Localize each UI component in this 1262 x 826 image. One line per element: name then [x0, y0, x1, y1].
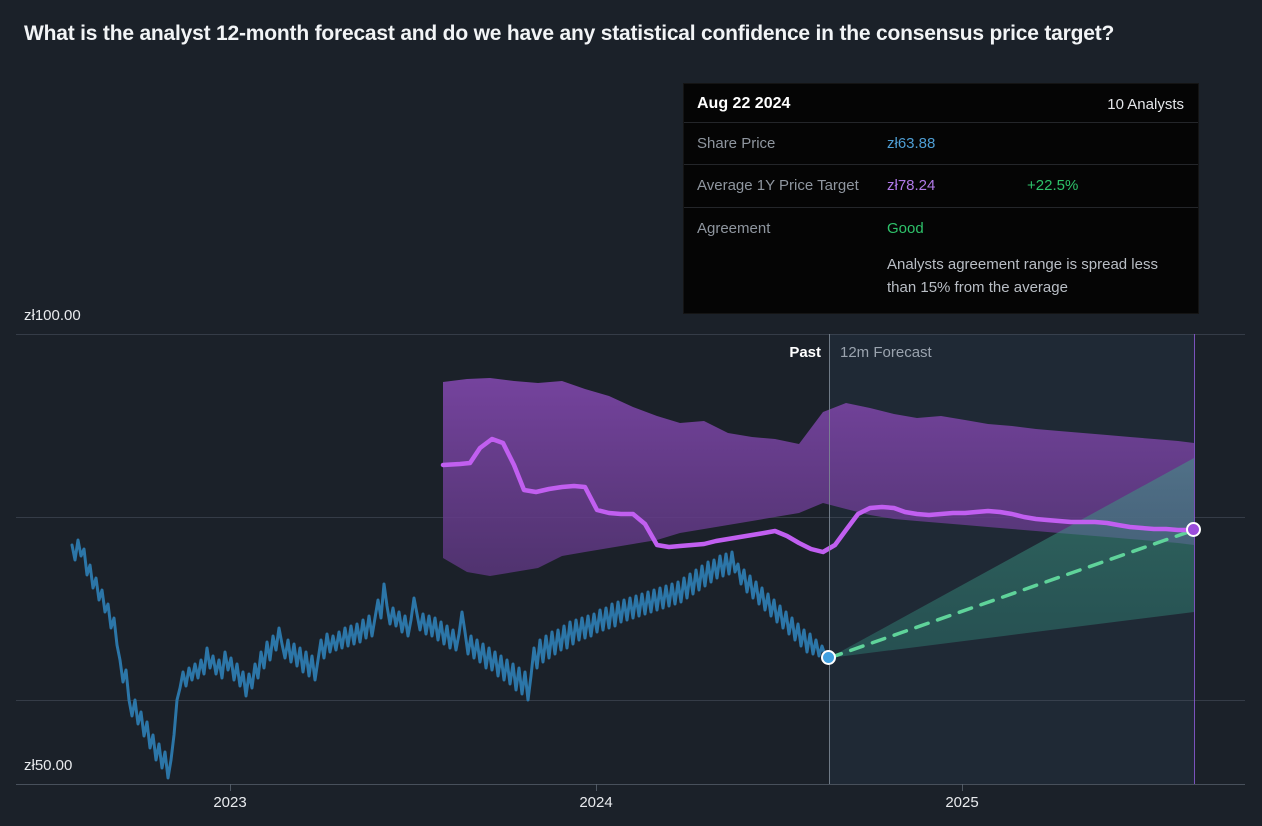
- past-forecast-divider: [829, 334, 830, 784]
- tooltip-row-price-target: Average 1Y Price Target zł78.24 +22.5%: [684, 164, 1198, 206]
- tooltip-row-share-price: Share Price zł63.88: [684, 122, 1198, 164]
- label-past: Past: [789, 344, 821, 361]
- label-12m-forecast: 12m Forecast: [840, 344, 932, 361]
- tooltip-label-agreement: Agreement: [697, 217, 887, 240]
- tooltip-agreement-note: Analysts agreement range is spread less …: [887, 249, 1184, 300]
- tooltip-date: Aug 22 2024: [697, 95, 790, 113]
- tooltip-agreement-note-row: Analysts agreement range is spread less …: [684, 249, 1198, 314]
- tooltip-value-share-price: zł63.88: [887, 132, 1027, 155]
- price-target-marker[interactable]: [1186, 522, 1201, 537]
- tooltip-note-spacer: [697, 249, 887, 300]
- chart-tooltip[interactable]: Aug 22 2024 10 Analysts Share Price zł63…: [684, 84, 1198, 313]
- tooltip-analyst-count: 10 Analysts: [1107, 96, 1184, 113]
- tooltip-label-price-target: Average 1Y Price Target: [697, 174, 887, 197]
- tooltip-value-price-target: zł78.24: [887, 174, 1027, 197]
- share-price-line: [72, 540, 829, 778]
- share-price-marker[interactable]: [821, 650, 836, 665]
- tooltip-upside-percent: +22.5%: [1027, 174, 1078, 197]
- tooltip-row-agreement: Agreement Good: [684, 207, 1198, 249]
- tooltip-label-share-price: Share Price: [697, 132, 887, 155]
- tooltip-header: Aug 22 2024 10 Analysts: [684, 84, 1198, 122]
- tooltip-value-agreement: Good: [887, 217, 1027, 240]
- forecast-end-line: [1194, 334, 1195, 784]
